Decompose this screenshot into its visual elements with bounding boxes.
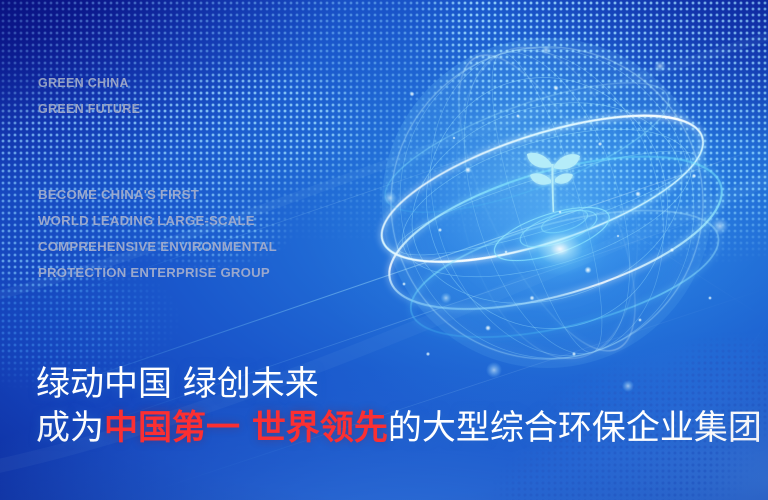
globe-graphic bbox=[382, 38, 712, 368]
subhead-line-2: WORLD LEADING LARGE-SCALE bbox=[38, 208, 277, 234]
headline-suffix: 的大型综合环保企业集团 bbox=[388, 408, 762, 448]
headline-highlight: 中国第一 世界领先 bbox=[104, 408, 388, 448]
eyebrow-line-2: GREEN FUTURE bbox=[38, 96, 140, 122]
headline-line-1: 绿动中国 绿创未来 bbox=[36, 362, 762, 406]
subhead-line-1: BECOME CHINA'S FIRST bbox=[38, 182, 277, 208]
globe-wireframe-icon bbox=[382, 38, 712, 368]
eyebrow-line-1: GREEN CHINA bbox=[38, 70, 140, 96]
subhead-line-3: COMPREHENSIVE ENVIRONMENTAL bbox=[38, 234, 277, 260]
headline-prefix: 成为 bbox=[36, 408, 104, 448]
subhead-line-4: PROTECTION ENTERPRISE GROUP bbox=[38, 260, 277, 286]
subhead-text-block: BECOME CHINA'S FIRST WORLD LEADING LARGE… bbox=[38, 182, 277, 286]
headline-block: 绿动中国 绿创未来 成为中国第一 世界领先的大型综合环保企业集团 bbox=[36, 362, 762, 450]
headline-line-2: 成为中国第一 世界领先的大型综合环保企业集团 bbox=[36, 406, 762, 450]
hero-banner: GREEN CHINA GREEN FUTURE BECOME CHINA'S … bbox=[0, 0, 768, 500]
eyebrow-text-block: GREEN CHINA GREEN FUTURE bbox=[38, 70, 140, 122]
